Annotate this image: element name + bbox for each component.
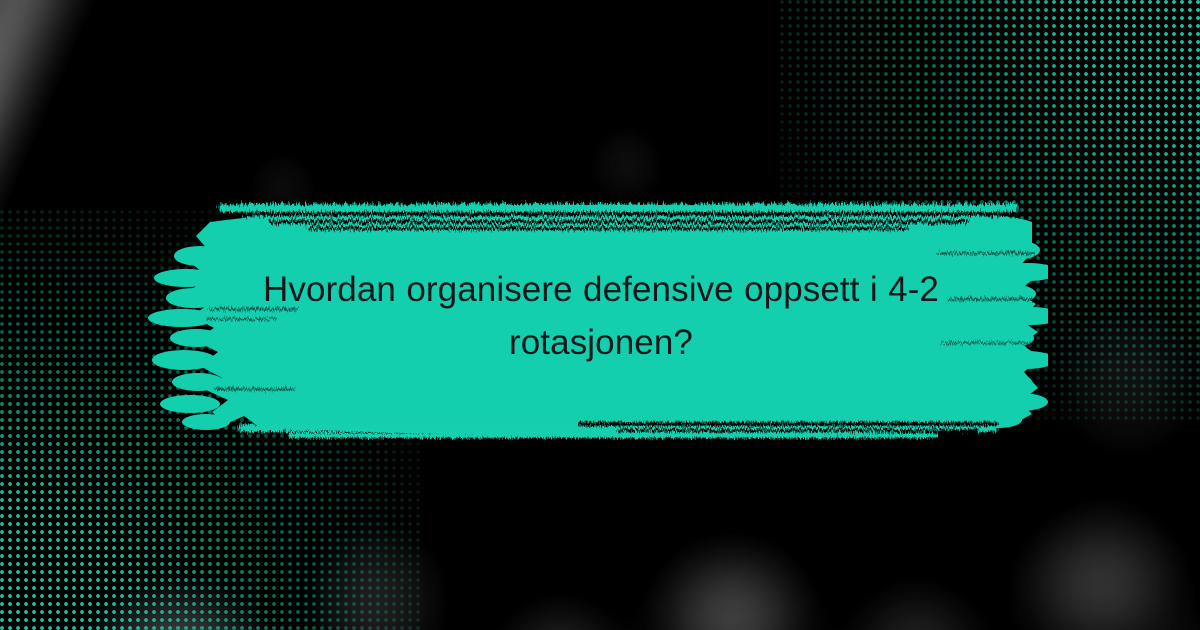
social-share-card: Hvordan organisere defensive oppsett i 4… xyxy=(0,0,1200,630)
headline-brush-banner: Hvordan organisere defensive oppsett i 4… xyxy=(148,192,1048,440)
headline-text: Hvordan organisere defensive oppsett i 4… xyxy=(208,263,994,369)
